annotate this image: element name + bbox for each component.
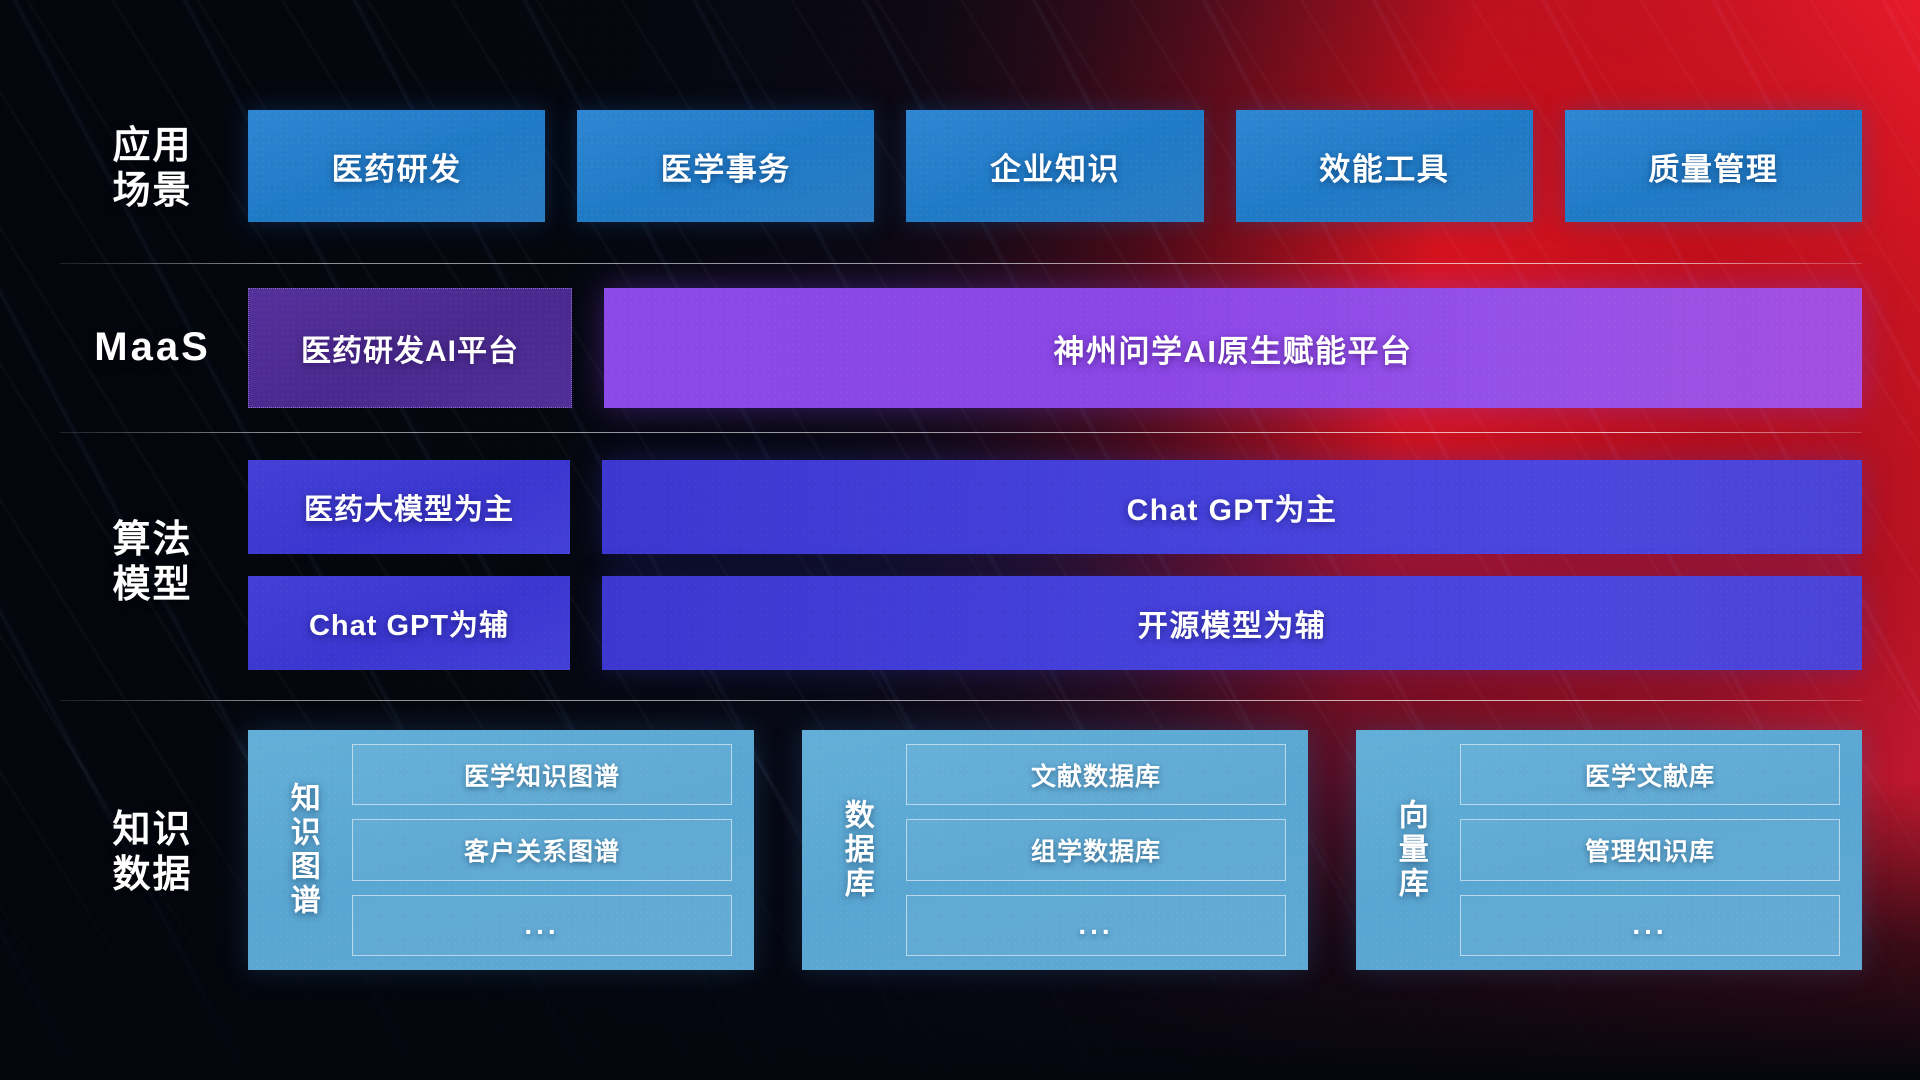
tier-maas: MaaS 医药研发AI平台 神州问学AI原生赋能平台 bbox=[0, 288, 1920, 408]
maas-panel-track: 医药研发AI平台 神州问学AI原生赋能平台 bbox=[248, 288, 1862, 408]
knowledge-item-list: 医学知识图谱 客户关系图谱 ... bbox=[352, 744, 732, 956]
maas-card-pharma-ai-platform[interactable]: 医药研发AI平台 bbox=[248, 288, 572, 408]
tier-label-knowledge-data: 知识 数据 bbox=[60, 808, 245, 898]
tier-knowledge-data: 知识 数据 知识图谱 医学知识图谱 客户关系图谱 ... 数据库 文献数据库 组… bbox=[0, 730, 1920, 970]
application-card-label: 效能工具 bbox=[1319, 144, 1449, 189]
application-card-label: 企业知识 bbox=[990, 144, 1120, 189]
knowledge-item[interactable]: 客户关系图谱 bbox=[352, 819, 732, 880]
application-card-efficiency-tools[interactable]: 效能工具 bbox=[1236, 110, 1533, 222]
tier-label-maas: MaaS bbox=[60, 324, 245, 371]
algorithm-card-label: 医药大模型为主 bbox=[304, 486, 514, 528]
algorithm-card-chatgpt-secondary[interactable]: Chat GPT为辅 bbox=[248, 576, 570, 670]
maas-card-shenzhou-wenxue-platform[interactable]: 神州问学AI原生赋能平台 bbox=[604, 288, 1862, 408]
algorithm-card-label: 开源模型为辅 bbox=[1138, 601, 1326, 645]
section-divider-1 bbox=[60, 263, 1862, 264]
algorithm-card-label: Chat GPT为辅 bbox=[309, 602, 509, 644]
knowledge-item[interactable]: 管理知识库 bbox=[1460, 819, 1840, 880]
algorithm-card-label: Chat GPT为主 bbox=[1127, 485, 1338, 529]
algorithm-row-primary: 医药大模型为主 Chat GPT为主 bbox=[248, 460, 1862, 554]
knowledge-item-more[interactable]: ... bbox=[1460, 895, 1840, 956]
tier-algorithm-models: 算法 模型 医药大模型为主 Chat GPT为主 Chat GPT为辅 开源模型… bbox=[0, 460, 1920, 670]
knowledge-group-knowledge-graph[interactable]: 知识图谱 医学知识图谱 客户关系图谱 ... bbox=[248, 730, 754, 970]
algorithm-row-secondary: Chat GPT为辅 开源模型为辅 bbox=[248, 576, 1862, 670]
maas-card-label: 神州问学AI原生赋能平台 bbox=[1054, 326, 1413, 371]
knowledge-item[interactable]: 文献数据库 bbox=[906, 744, 1286, 805]
algorithm-card-opensource-secondary[interactable]: 开源模型为辅 bbox=[602, 576, 1862, 670]
application-card-medicine-rd[interactable]: 医药研发 bbox=[248, 110, 545, 222]
section-divider-2 bbox=[60, 432, 1862, 433]
section-divider-3 bbox=[60, 700, 1862, 701]
knowledge-item[interactable]: 组学数据库 bbox=[906, 819, 1286, 880]
application-card-label: 医学事务 bbox=[661, 144, 791, 189]
knowledge-item[interactable]: 医学文献库 bbox=[1460, 744, 1840, 805]
knowledge-item[interactable]: 医学知识图谱 bbox=[352, 744, 732, 805]
application-card-label: 医药研发 bbox=[332, 144, 462, 189]
knowledge-group-title: 向量库 bbox=[1382, 799, 1438, 901]
knowledge-item-more[interactable]: ... bbox=[352, 895, 732, 956]
tier-label-algorithm-models: 算法 模型 bbox=[60, 518, 245, 608]
knowledge-group-track: 知识图谱 医学知识图谱 客户关系图谱 ... 数据库 文献数据库 组学数据库 .… bbox=[248, 730, 1862, 970]
algorithm-card-pharma-llm-primary[interactable]: 医药大模型为主 bbox=[248, 460, 570, 554]
knowledge-item-list: 医学文献库 管理知识库 ... bbox=[1460, 744, 1840, 956]
application-card-track: 医药研发 医学事务 企业知识 效能工具 质量管理 bbox=[248, 110, 1862, 222]
application-card-label: 质量管理 bbox=[1648, 144, 1778, 189]
knowledge-group-title: 数据库 bbox=[828, 799, 884, 901]
knowledge-item-more[interactable]: ... bbox=[906, 895, 1286, 956]
maas-card-label: 医药研发AI平台 bbox=[301, 326, 519, 370]
application-card-quality-management[interactable]: 质量管理 bbox=[1565, 110, 1862, 222]
knowledge-item-list: 文献数据库 组学数据库 ... bbox=[906, 744, 1286, 956]
algorithm-card-chatgpt-primary[interactable]: Chat GPT为主 bbox=[602, 460, 1862, 554]
tier-applications: 应用 场景 医药研发 医学事务 企业知识 效能工具 质量管理 bbox=[0, 110, 1920, 222]
knowledge-group-vector-store[interactable]: 向量库 医学文献库 管理知识库 ... bbox=[1356, 730, 1862, 970]
application-card-medical-affairs[interactable]: 医学事务 bbox=[577, 110, 874, 222]
knowledge-group-database[interactable]: 数据库 文献数据库 组学数据库 ... bbox=[802, 730, 1308, 970]
tier-label-applications: 应用 场景 bbox=[60, 124, 245, 214]
application-card-enterprise-knowledge[interactable]: 企业知识 bbox=[906, 110, 1203, 222]
architecture-diagram: 应用 场景 医药研发 医学事务 企业知识 效能工具 质量管理 bbox=[0, 0, 1920, 1080]
knowledge-group-title: 知识图谱 bbox=[274, 782, 330, 918]
